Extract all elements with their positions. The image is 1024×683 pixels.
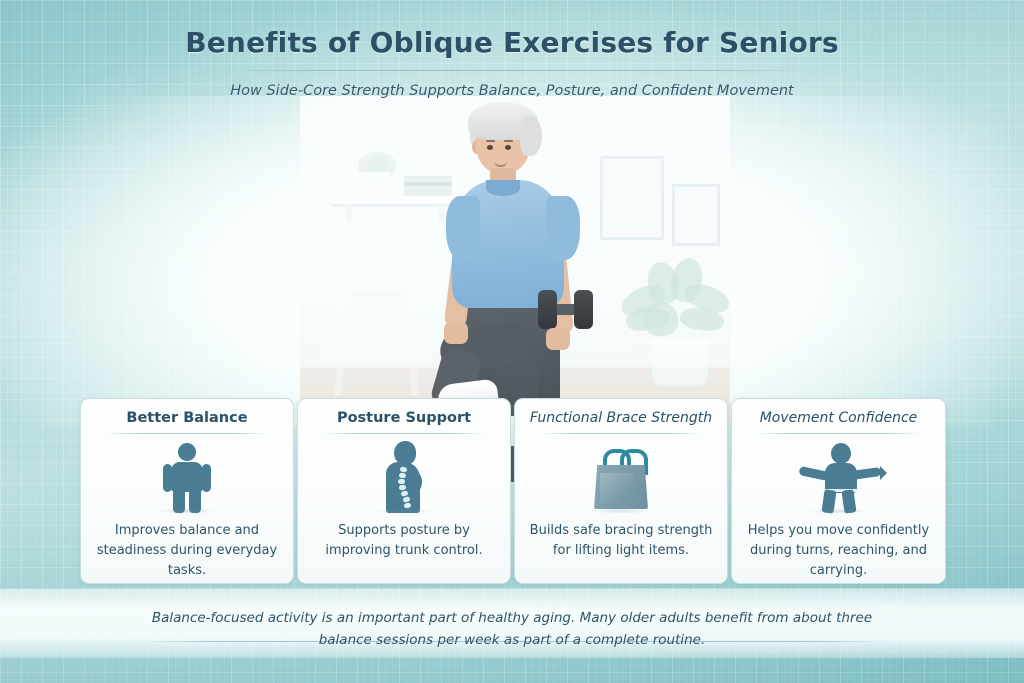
card-description: Helps you move confidently during turns,…	[746, 521, 931, 580]
picture-frame-large-icon	[600, 156, 664, 240]
figure-eye-left	[487, 145, 493, 150]
card-divider	[756, 433, 921, 434]
dumbbell-icon	[538, 290, 594, 330]
infographic-root: Benefits of Oblique Exercises for Senior…	[0, 0, 1024, 683]
benefit-cards: Better Balance Improves balance and stea…	[80, 398, 944, 582]
standing-person-icon	[159, 443, 215, 513]
picture-frame-small-icon	[672, 184, 720, 246]
walk-head	[831, 443, 851, 464]
card-title: Functional Brace Strength	[515, 410, 727, 426]
card-divider	[105, 433, 269, 434]
card-description: Supports posture by improving trunk cont…	[312, 521, 496, 561]
figure-hand-left	[444, 322, 468, 344]
figure-sleeve-right	[546, 196, 580, 260]
person-arm-right	[202, 464, 211, 492]
footer-note: Balance-focused activity is an important…	[130, 608, 894, 652]
card-title: Better Balance	[81, 410, 293, 426]
shelf-plant-pot-icon	[362, 172, 390, 196]
benefit-card-functional-brace-strength[interactable]: Functional Brace Strength Builds safe br…	[514, 398, 728, 584]
dumbbell-weight-left	[538, 290, 557, 329]
title-divider	[205, 70, 819, 71]
shelf-bracket-left	[346, 204, 352, 222]
figure-eye-right	[505, 145, 511, 150]
icon-shadow	[796, 507, 882, 515]
person-head	[178, 443, 196, 461]
card-icon-area	[298, 439, 510, 517]
benefit-card-movement-confidence[interactable]: Movement Confidence Helps you move confi…	[731, 398, 946, 584]
page-subtitle: How Side-Core Strength Supports Balance,…	[0, 83, 1024, 99]
shopping-bag-icon	[590, 447, 652, 509]
card-description: Builds safe bracing strength for lifting…	[529, 521, 713, 561]
spine-chest	[406, 471, 422, 493]
plant-leaf	[643, 301, 679, 337]
card-description: Improves balance and steadiness during e…	[95, 521, 279, 580]
floor-plant-icon	[618, 246, 736, 386]
chair-icon	[320, 292, 428, 388]
spine-posture-icon	[378, 441, 430, 513]
figure-eyebrow-left	[486, 140, 495, 142]
icon-shadow	[578, 507, 664, 515]
vertebra	[398, 479, 405, 484]
dumbbell-weight-right	[574, 290, 593, 329]
card-icon-area	[732, 439, 945, 517]
person-body	[171, 462, 203, 492]
figure-hair-side	[520, 116, 542, 156]
figure-collar	[486, 180, 520, 196]
right-arrow-icon	[865, 471, 885, 474]
icon-shadow	[144, 507, 230, 515]
card-icon-area	[515, 439, 727, 517]
figure-hand-right	[546, 328, 570, 350]
card-divider	[539, 433, 703, 434]
benefit-card-posture-support[interactable]: Posture Support Supports posture by	[297, 398, 511, 584]
page-title: Benefits of Oblique Exercises for Senior…	[0, 26, 1024, 59]
chair-back	[350, 292, 408, 344]
card-icon-area	[81, 439, 293, 517]
card-divider	[322, 433, 486, 434]
card-title: Posture Support	[298, 410, 510, 426]
walking-person-arrow-icon	[793, 443, 885, 513]
card-title: Movement Confidence	[732, 410, 945, 426]
benefit-card-better-balance[interactable]: Better Balance Improves balance and stea…	[80, 398, 294, 584]
icon-shadow	[361, 507, 447, 515]
plant-pot	[652, 340, 708, 386]
vertebra	[399, 473, 406, 479]
figure-sleeve-left	[446, 196, 480, 260]
bag-highlight	[600, 473, 634, 503]
figure-eyebrow-right	[504, 140, 513, 142]
